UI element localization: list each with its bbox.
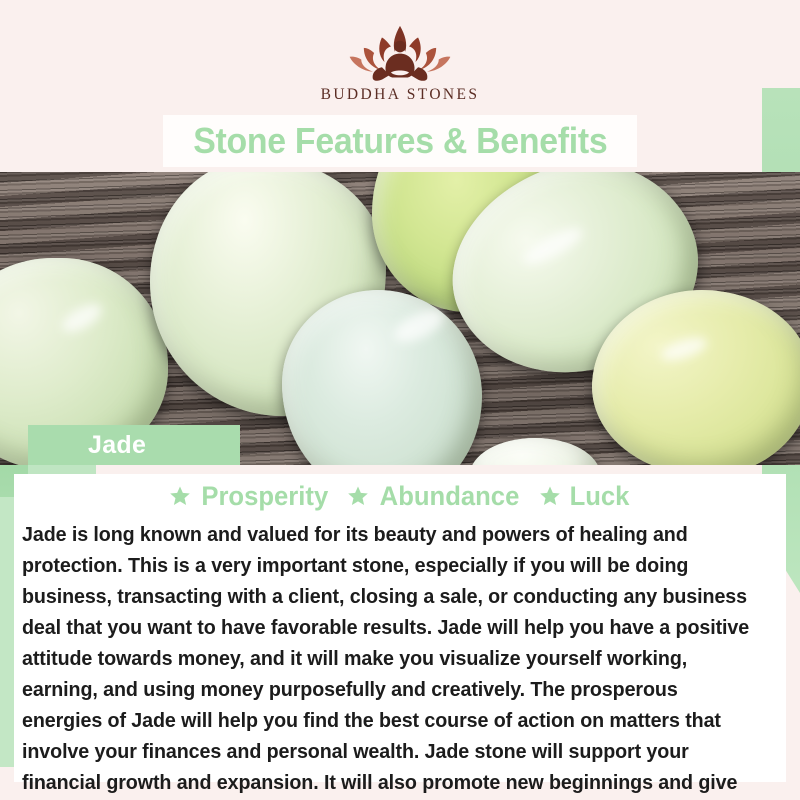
star-icon: [539, 485, 561, 507]
stone-name-badge: Jade: [28, 425, 240, 465]
stone-description: Jade is long known and valued for its be…: [22, 520, 753, 800]
benefit-label: Prosperity: [201, 481, 328, 512]
stone-info-card: BUDDHA STONES Stone Features & Benefits …: [0, 0, 800, 800]
benefit-item: Prosperity: [169, 481, 332, 512]
benefits-row: Prosperity Abundance Luck: [14, 476, 786, 516]
page-title: Stone Features & Benefits: [193, 120, 607, 162]
stone-name: Jade: [88, 431, 146, 460]
benefit-label: Abundance: [380, 481, 520, 512]
star-icon: [347, 485, 369, 507]
brand-name: BUDDHA STONES: [321, 86, 480, 104]
stone-photo: Jade: [0, 172, 800, 465]
content-panel: Prosperity Abundance Luck Jade is long k…: [14, 474, 786, 782]
lotus-meditation-icon: [335, 22, 465, 84]
benefit-item: Abundance: [347, 481, 523, 512]
brand-logo: BUDDHA STONES: [0, 22, 800, 114]
benefit-item: Luck: [539, 481, 631, 512]
page-title-band: Stone Features & Benefits: [163, 115, 637, 167]
star-icon: [169, 485, 191, 507]
benefit-label: Luck: [570, 481, 630, 512]
